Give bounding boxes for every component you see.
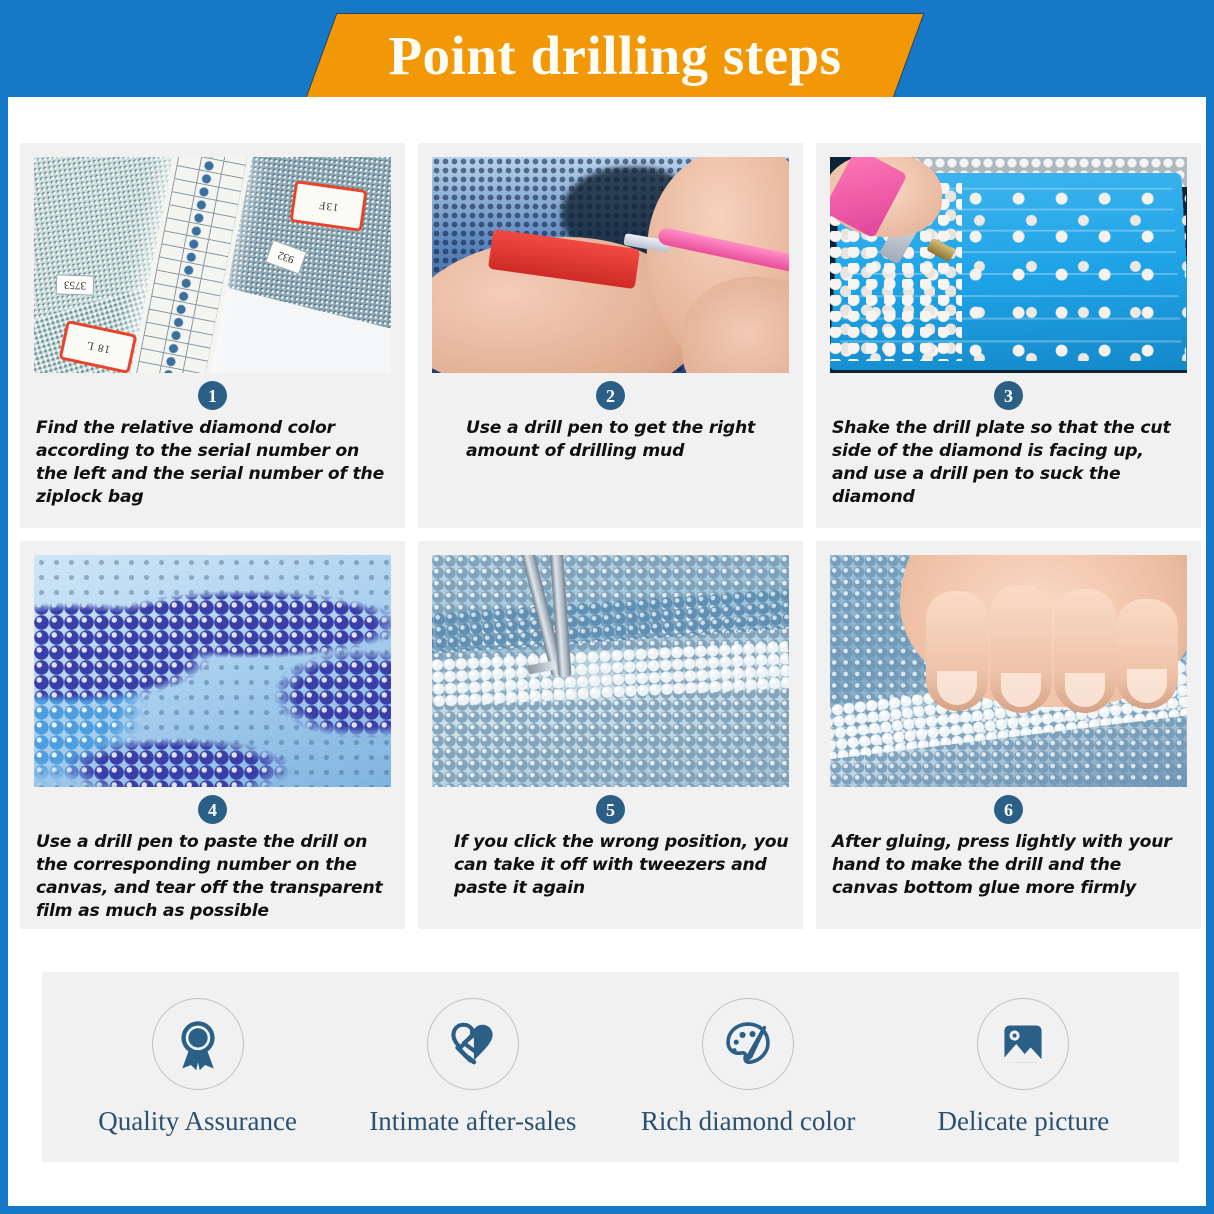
- fingernail: [1127, 669, 1167, 703]
- step-3-photo: [830, 157, 1187, 373]
- feature-intimate-after-sales: Intimate after-sales: [335, 998, 610, 1137]
- award-ribbon-icon: [170, 1016, 226, 1072]
- step-card-1: 13F 18 L 932 3753 1 Find the relative di…: [20, 143, 405, 528]
- dark-blue-diamonds: [34, 555, 391, 787]
- step-6-caption: After gluing, press lightly with your ha…: [830, 831, 1187, 900]
- step-1-photo: 13F 18 L 932 3753: [34, 157, 391, 373]
- feature-icon-circle: [152, 998, 244, 1090]
- finger-3: [1054, 589, 1116, 713]
- picture-image-icon: [996, 1017, 1050, 1071]
- fingernail: [937, 671, 977, 705]
- heart-handshake-icon: [444, 1015, 502, 1073]
- step-card-5: 5 If you click the wrong position, you c…: [418, 541, 803, 929]
- step-5-photo: [432, 555, 789, 787]
- feature-icon-circle: [977, 998, 1069, 1090]
- feature-rich-diamond-color: Rich diamond color: [611, 998, 886, 1137]
- finger-2: [990, 585, 1052, 713]
- feature-quality-assurance: Quality Assurance: [60, 998, 335, 1137]
- step-2-caption: Use a drill pen to get the right amount …: [432, 417, 789, 463]
- step-card-6: 6 After gluing, press lightly with your …: [816, 541, 1201, 929]
- feature-bar: Quality Assurance Intimate after-sales: [42, 972, 1179, 1162]
- step-4-photo: [34, 555, 391, 787]
- feature-label: Delicate picture: [938, 1106, 1110, 1137]
- step-5-caption: If you click the wrong position, you can…: [432, 831, 789, 900]
- step-number-badge: 3: [994, 381, 1023, 410]
- feature-label: Quality Assurance: [98, 1106, 297, 1137]
- step-number-badge: 6: [994, 795, 1023, 824]
- feature-label: Rich diamond color: [641, 1106, 855, 1137]
- feature-delicate-picture: Delicate picture: [886, 998, 1161, 1137]
- page-title: Point drilling steps: [322, 14, 908, 97]
- step-3-badge-row: 3: [830, 381, 1187, 410]
- step-number-badge: 5: [596, 795, 625, 824]
- fingernail: [1065, 673, 1105, 707]
- infographic-page: Point drilling steps 13F 18 L 932 3753: [0, 0, 1214, 1214]
- step-card-3: 3 Shake the drill plate so that the cut …: [816, 143, 1201, 528]
- step-number-badge: 1: [198, 381, 227, 410]
- step-number-badge: 2: [596, 381, 625, 410]
- feature-label: Intimate after-sales: [369, 1106, 576, 1137]
- step-1-badge-row: 1: [34, 381, 391, 410]
- feature-icon-circle: [427, 998, 519, 1090]
- step-3-caption: Shake the drill plate so that the cut si…: [830, 417, 1187, 509]
- paint-palette-icon: [719, 1015, 777, 1073]
- finger-1: [926, 591, 988, 711]
- feature-icon-circle: [702, 998, 794, 1090]
- step-6-photo: [830, 555, 1187, 787]
- bag-tag-3753: 3753: [56, 274, 95, 295]
- step-6-badge-row: 6: [830, 795, 1187, 824]
- finger-4: [1116, 599, 1178, 709]
- step-number-badge: 4: [198, 795, 227, 824]
- step-card-2: 2 Use a drill pen to get the right amoun…: [418, 143, 803, 528]
- step-4-caption: Use a drill pen to paste the drill on th…: [34, 831, 391, 923]
- steps-grid: 13F 18 L 932 3753 1 Find the relative di…: [20, 143, 1202, 929]
- page-header: Point drilling steps: [0, 0, 1214, 97]
- step-card-4: 4 Use a drill pen to paste the drill on …: [20, 541, 405, 929]
- step-2-photo: [432, 157, 789, 373]
- step-2-badge-row: 2: [432, 381, 789, 410]
- fingernail: [1001, 673, 1041, 707]
- step-4-badge-row: 4: [34, 795, 391, 824]
- step-5-badge-row: 5: [432, 795, 789, 824]
- step-1-caption: Find the relative diamond color accordin…: [34, 417, 391, 509]
